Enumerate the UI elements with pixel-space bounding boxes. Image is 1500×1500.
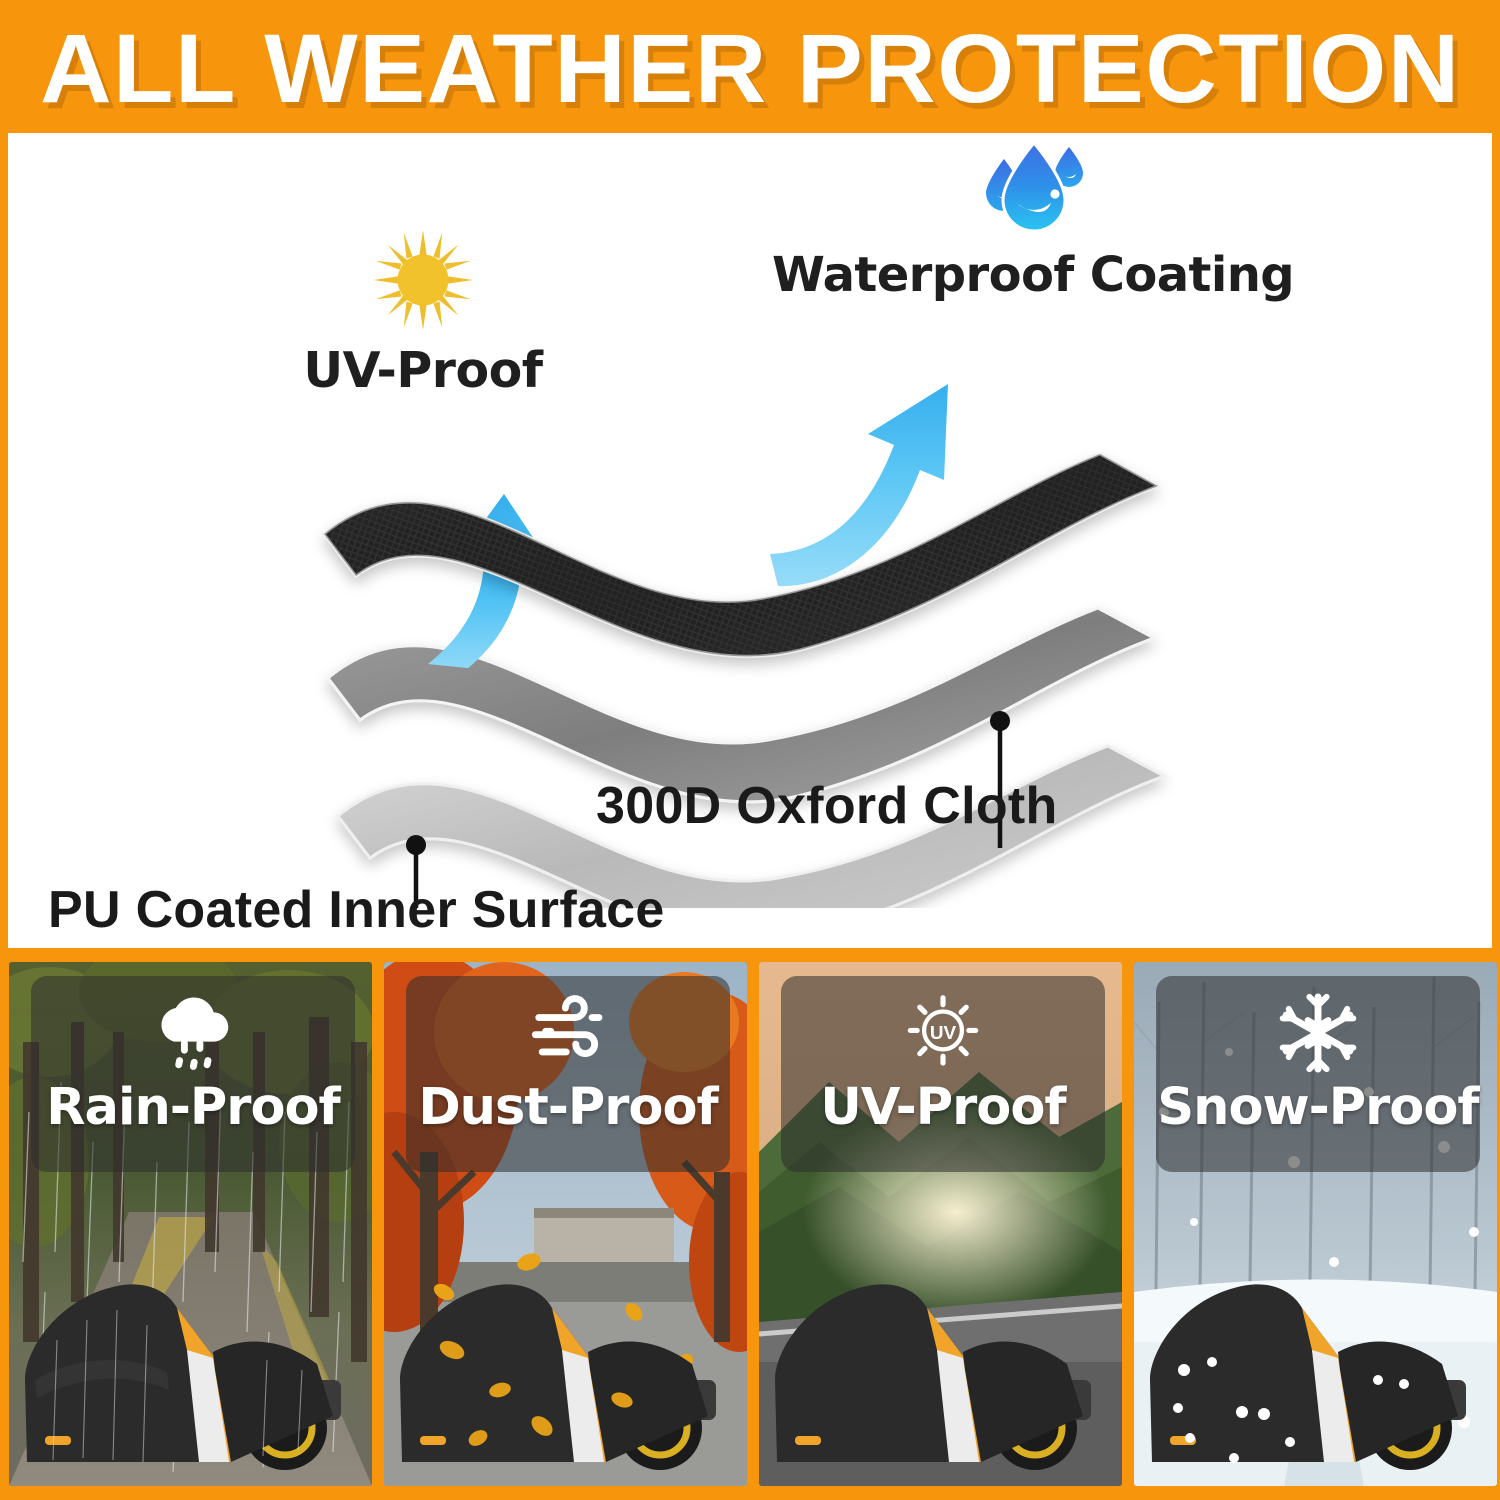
waterproof-coating-feature: Waterproof Coating xyxy=(768,141,1298,303)
rain-cloud-icon xyxy=(150,990,236,1076)
tile-label-uv: UV-Proof xyxy=(820,1078,1065,1137)
top-layer xyxy=(324,454,1158,656)
tile-label-box-uv: UV UV-Proof xyxy=(781,976,1105,1172)
wind-icon xyxy=(525,990,611,1076)
pu-inner-surface-label: PU Coated Inner Surface xyxy=(48,880,665,940)
tile-label-box-rain: Rain-Proof xyxy=(31,976,355,1172)
tile-uv-proof[interactable]: UV UV-Proof xyxy=(759,962,1122,1486)
covered-motorcycle-uv xyxy=(767,1230,1115,1480)
water-drops-icon xyxy=(979,141,1087,241)
covered-motorcycle-rain xyxy=(17,1230,365,1480)
fabric-construction-section: UV-Proof xyxy=(8,133,1492,948)
covered-motorcycle-dust xyxy=(392,1230,740,1480)
covered-motorcycle-snow xyxy=(1142,1230,1490,1480)
tile-label-box-snow: Snow-Proof xyxy=(1156,976,1480,1172)
tile-label-rain: Rain-Proof xyxy=(46,1078,339,1137)
tile-snow-proof[interactable]: Snow-Proof xyxy=(1134,962,1497,1486)
uv-sun-icon: UV xyxy=(900,990,986,1076)
header-banner: ALL WEATHER PROTECTION xyxy=(0,0,1500,133)
infographic-page: ALL WEATHER PROTECTION xyxy=(0,0,1500,1500)
tile-dust-proof[interactable]: Dust-Proof xyxy=(384,962,747,1486)
sun-icon xyxy=(371,228,475,332)
tile-label-snow: Snow-Proof xyxy=(1157,1078,1478,1137)
waterproof-coating-label: Waterproof Coating xyxy=(768,247,1298,303)
tile-label-box-dust: Dust-Proof xyxy=(406,976,730,1172)
tile-rain-proof[interactable]: Rain-Proof xyxy=(9,962,372,1486)
weather-scenarios-strip: Rain-Proof xyxy=(0,948,1500,1500)
svg-text:UV: UV xyxy=(930,1023,957,1044)
snowflake-icon xyxy=(1275,990,1361,1076)
tile-label-dust: Dust-Proof xyxy=(418,1078,717,1137)
oxford-cloth-label: 300D Oxford Cloth xyxy=(596,776,1058,836)
page-title: ALL WEATHER PROTECTION xyxy=(40,16,1461,117)
